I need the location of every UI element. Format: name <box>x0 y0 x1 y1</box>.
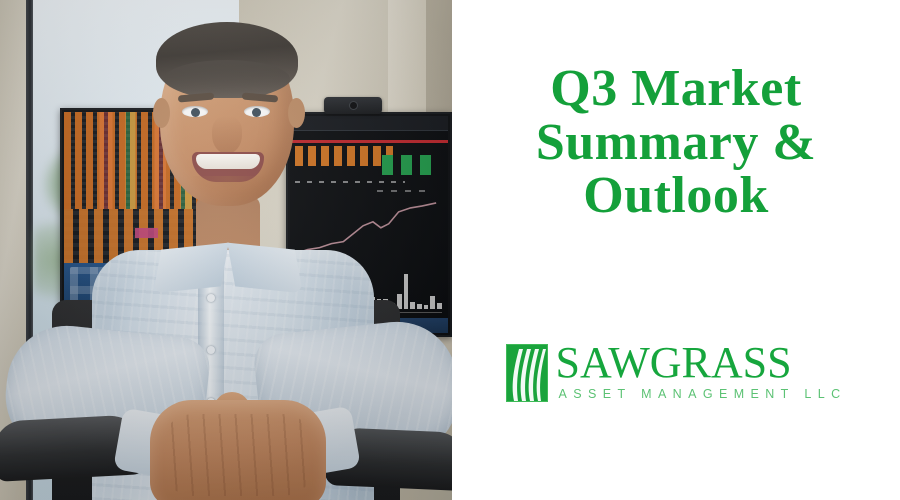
chart-text-row <box>295 181 406 183</box>
chart-green-cell <box>401 155 412 175</box>
shirt-button <box>207 294 215 302</box>
volume-bar <box>430 296 435 309</box>
pupil-right <box>252 108 261 117</box>
chart-app-header <box>290 116 448 131</box>
blades-svg <box>507 345 548 402</box>
teeth <box>196 154 260 169</box>
sawgrass-blades-icon <box>506 344 548 402</box>
presentation-slide: Q3 Market Summary & Outlook SAWGRASS ASS… <box>0 0 900 500</box>
hair <box>156 22 298 98</box>
title-line-3: Outlook <box>452 169 900 223</box>
shirt-collar-left <box>153 243 229 294</box>
title-panel: Q3 Market Summary & Outlook SAWGRASS ASS… <box>452 0 900 500</box>
company-logo: SAWGRASS ASSET MANAGEMENT LLC <box>452 342 900 402</box>
logo-company-name: SAWGRASS <box>556 342 847 384</box>
chart-orange-row <box>295 146 393 166</box>
nose <box>212 116 242 154</box>
webcam-icon <box>324 97 382 114</box>
chin <box>190 176 266 202</box>
chart-red-divider <box>290 140 448 143</box>
shirt-collar-right <box>227 243 303 294</box>
shirt-button <box>207 346 215 354</box>
slide-title: Q3 Market Summary & Outlook <box>452 62 900 223</box>
volume-bar <box>404 274 409 309</box>
title-line-1: Q3 Market <box>452 62 900 116</box>
clasped-hands <box>150 400 326 500</box>
ear-left <box>153 98 170 128</box>
volume-bar <box>424 305 429 309</box>
chart-green-cell <box>382 155 393 175</box>
ear-right <box>288 98 305 128</box>
logo-tagline: ASSET MANAGEMENT LLC <box>559 387 847 401</box>
volume-bar <box>437 303 442 310</box>
title-line-2: Summary & <box>452 116 900 170</box>
pupil-left <box>191 108 200 117</box>
speaker-photo <box>0 0 452 500</box>
chart-text-row <box>377 190 432 192</box>
chart-green-cell <box>420 155 431 175</box>
volume-bar <box>410 302 415 309</box>
volume-bar <box>417 304 422 309</box>
logo-wordmark: SAWGRASS ASSET MANAGEMENT LLC <box>556 342 847 401</box>
terminal-highlight-cell <box>135 228 158 239</box>
